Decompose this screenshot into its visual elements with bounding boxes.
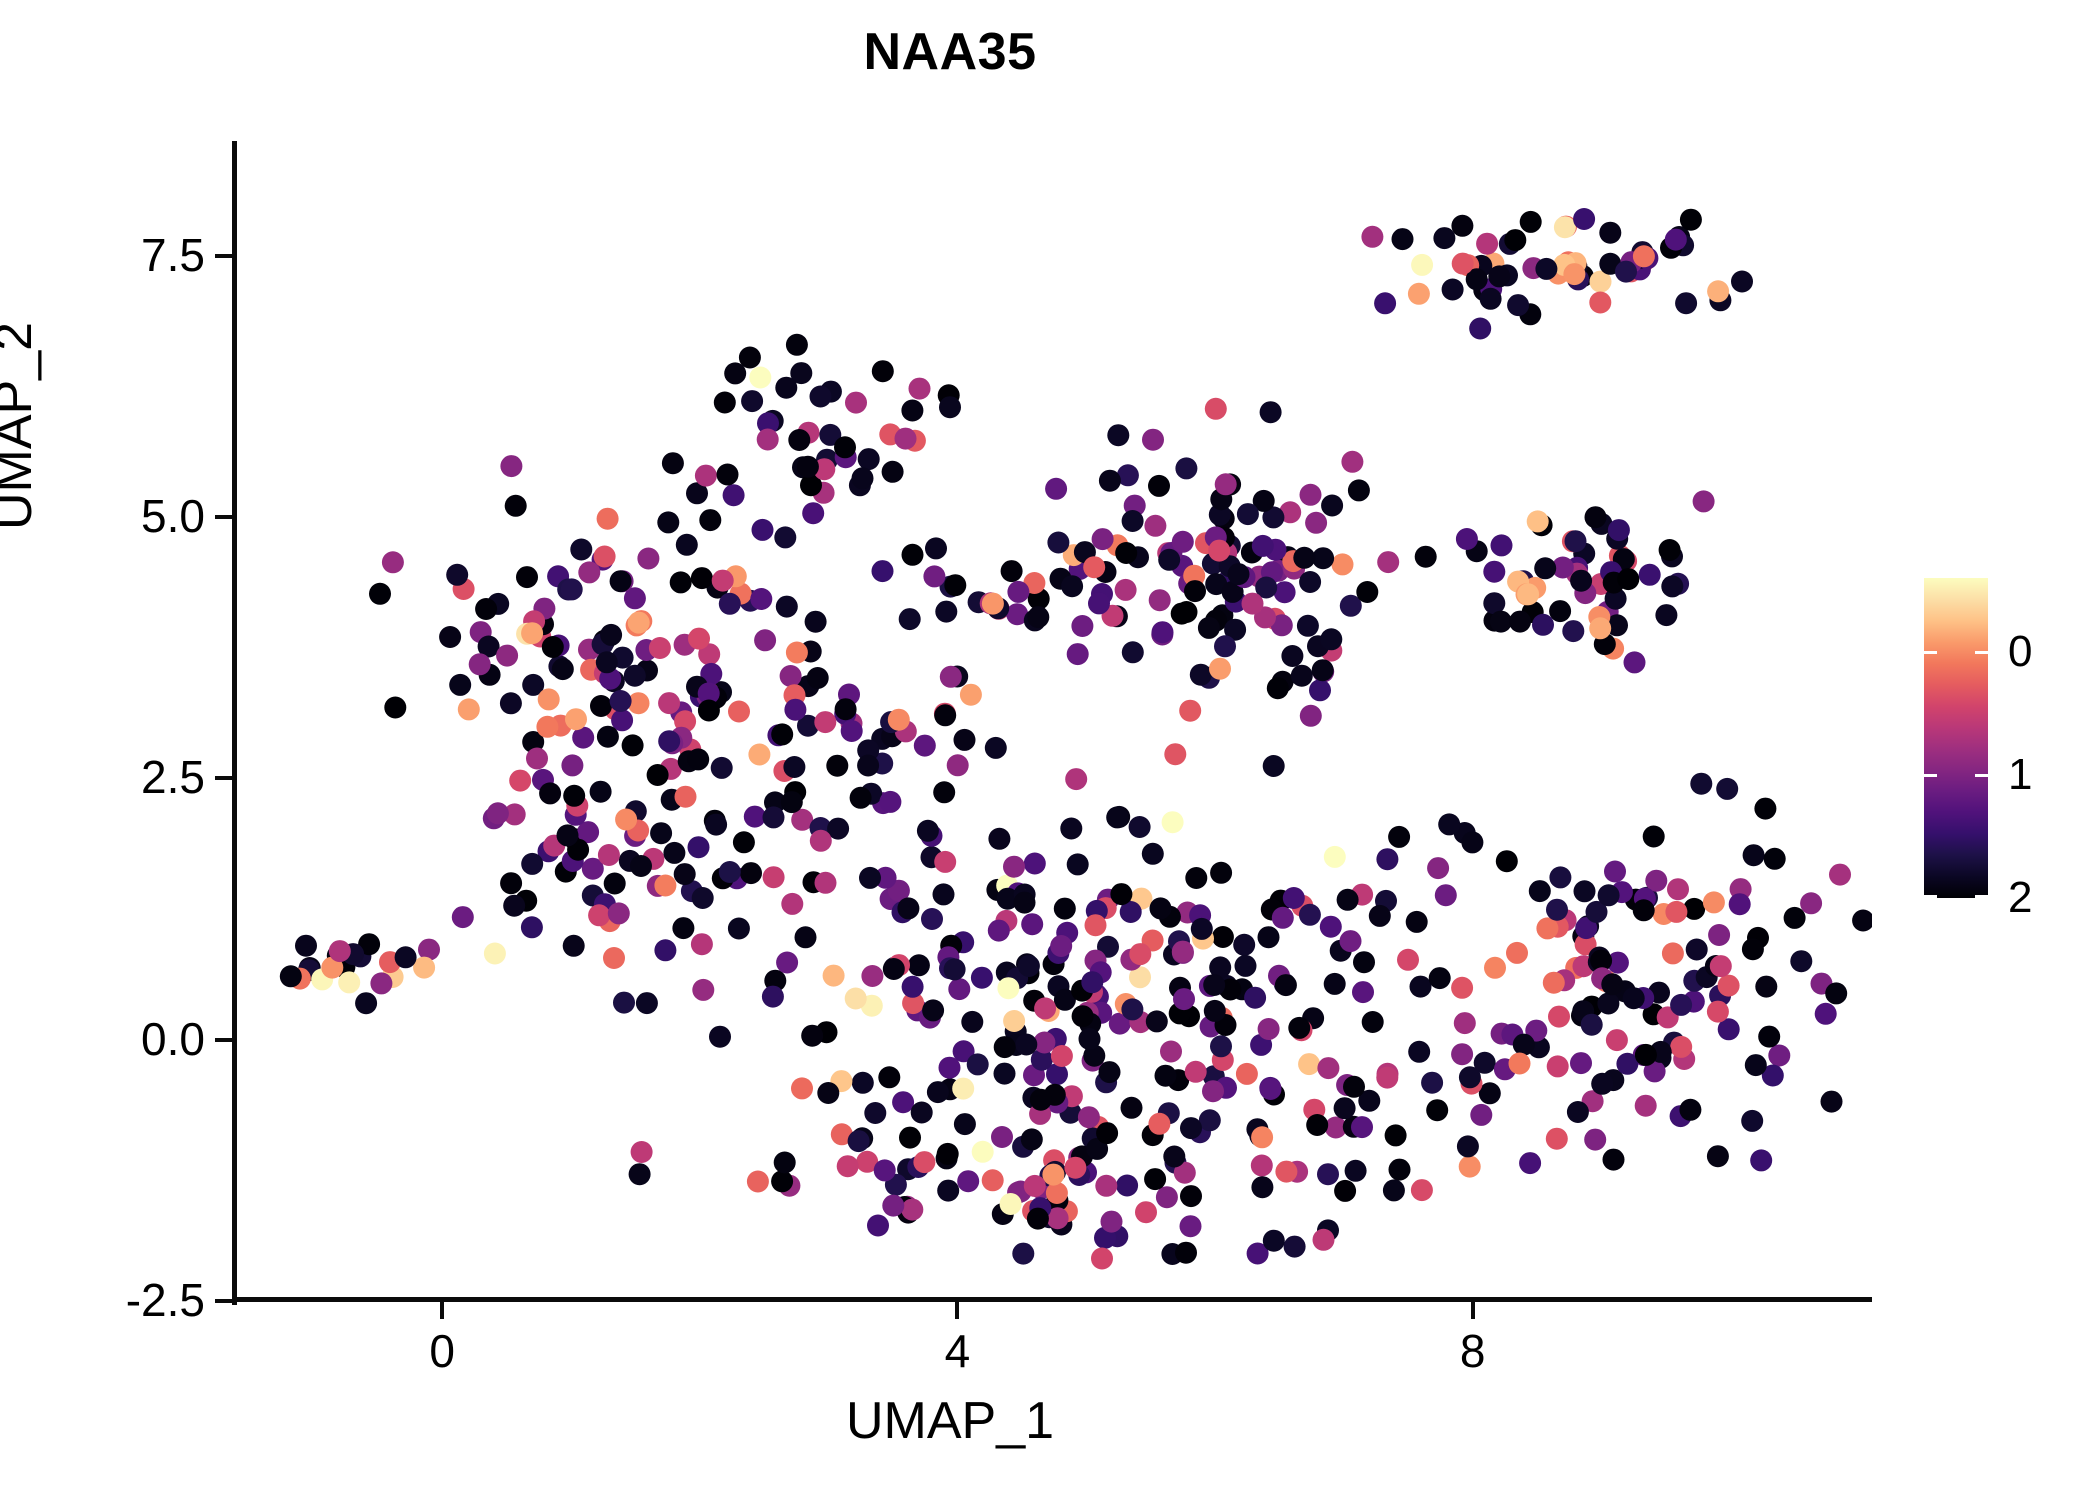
scatter-point: [921, 908, 943, 930]
scatter-point: [1433, 227, 1455, 249]
scatter-point: [705, 814, 727, 836]
scatter-point: [937, 1180, 959, 1202]
scatter-point: [1144, 515, 1166, 537]
scatter-point: [1309, 679, 1331, 701]
scatter-point: [1754, 798, 1776, 820]
scatter-point: [1081, 971, 1103, 993]
scatter-point: [1604, 861, 1626, 883]
scatter-point: [872, 360, 894, 382]
scatter-point: [1589, 292, 1611, 314]
scatter-point: [395, 946, 417, 968]
scatter-point: [1529, 880, 1551, 902]
scatter-point: [1334, 1180, 1356, 1202]
scatter-point: [1426, 1099, 1448, 1121]
scatter-point: [709, 1026, 731, 1048]
scatter-point: [1784, 907, 1806, 929]
scatter-point: [1175, 457, 1197, 479]
scatter-point: [1408, 1041, 1430, 1063]
scatter-point: [1116, 1175, 1138, 1197]
scatter-point: [972, 1141, 994, 1163]
scatter-point: [1332, 553, 1354, 575]
scatter-point: [988, 828, 1010, 850]
scatter-point: [280, 965, 302, 987]
scatter-point: [1598, 884, 1620, 906]
scatter-point: [837, 1155, 859, 1177]
scatter-point: [719, 593, 741, 615]
scatter-point: [1164, 743, 1186, 765]
scatter-point: [1397, 949, 1419, 971]
scatter-point: [1421, 1072, 1443, 1094]
scatter-point: [1299, 904, 1321, 926]
scatter-point: [1014, 892, 1036, 914]
scatter-point: [1340, 930, 1362, 952]
scatter-point: [1228, 563, 1250, 585]
scatter-point: [1343, 1076, 1365, 1098]
scatter-point: [1643, 826, 1665, 848]
scatter-point: [952, 1078, 974, 1100]
scatter-point: [649, 637, 671, 659]
scatter-point: [882, 1195, 904, 1217]
scatter-point: [933, 781, 955, 803]
scatter-point: [1554, 216, 1576, 238]
scatter-point: [1320, 628, 1342, 650]
scatter-point: [1274, 581, 1296, 603]
scatter-point: [933, 883, 955, 905]
scatter-point: [692, 979, 714, 1001]
scatter-point: [539, 782, 561, 804]
scatter-point: [1096, 1122, 1118, 1144]
scatter-point: [1176, 601, 1198, 623]
scatter-point: [1003, 1010, 1025, 1032]
scatter-point: [1686, 939, 1708, 961]
scatter-point: [786, 642, 808, 664]
scatter-point: [733, 831, 755, 853]
scatter-point: [1155, 1065, 1177, 1087]
scatter-point: [1051, 1045, 1073, 1067]
scatter-point: [1729, 893, 1751, 915]
scatter-point: [1007, 581, 1029, 603]
scatter-point: [503, 895, 525, 917]
scatter-point: [872, 560, 894, 582]
scatter-point: [954, 1113, 976, 1135]
scatter-point: [1633, 245, 1655, 267]
scatter-point: [848, 1130, 870, 1152]
scatter-point: [1067, 853, 1089, 875]
scatter-point: [487, 802, 509, 824]
scatter-point: [1312, 659, 1334, 681]
scatter-point: [1212, 926, 1234, 948]
scatter-point: [1300, 705, 1322, 727]
scatter-point: [1021, 913, 1043, 935]
scatter-point: [1121, 998, 1143, 1020]
scatter-point: [878, 1066, 900, 1088]
scatter-point: [603, 947, 625, 969]
scatter-point: [1027, 1208, 1049, 1230]
scatter-point: [688, 628, 710, 650]
scatter-point: [1317, 1057, 1339, 1079]
scatter-point: [370, 972, 392, 994]
scatter-point: [1589, 617, 1611, 639]
scatter-point: [1185, 1061, 1207, 1083]
scatter-point: [850, 787, 872, 809]
scatter-point: [802, 502, 824, 524]
scatter-point: [1236, 1063, 1258, 1085]
scatter-point: [1509, 611, 1531, 633]
scatter-point: [1546, 1128, 1568, 1150]
scatter-point: [991, 1126, 1013, 1148]
scatter-point: [628, 612, 650, 634]
scatter-point: [917, 820, 939, 842]
scatter-point: [740, 862, 762, 884]
scatter-point: [1085, 914, 1107, 936]
scatter-point: [1534, 557, 1556, 579]
scatter-point: [1504, 229, 1526, 251]
x-tick-label: 8: [1373, 1328, 1573, 1374]
scatter-point: [1532, 614, 1554, 636]
scatter-point: [475, 598, 497, 620]
scatter-point: [1476, 233, 1498, 255]
scatter-point: [1623, 987, 1645, 1009]
scatter-point: [1321, 495, 1343, 517]
scatter-point: [1190, 664, 1212, 686]
scatter-point: [658, 730, 680, 752]
scatter-point: [944, 958, 966, 980]
scatter-point: [757, 429, 779, 451]
scatter-point: [338, 971, 360, 993]
scatter-point: [728, 918, 750, 940]
scatter-point: [1000, 1193, 1022, 1215]
scatter-point: [369, 583, 391, 605]
scatter-point: [604, 873, 626, 895]
scatter-point: [909, 378, 931, 400]
legend-tick-label: 0: [2008, 630, 2078, 674]
scatter-point: [810, 830, 832, 852]
scatter-point: [1488, 265, 1510, 287]
scatter-point: [1306, 1114, 1328, 1136]
scatter-point: [852, 1072, 874, 1094]
y-tick-mark: [215, 254, 232, 258]
scatter-point: [1690, 773, 1712, 795]
scatter-point: [1351, 1116, 1373, 1138]
scatter-point: [1012, 1243, 1034, 1265]
scatter-point: [1275, 974, 1297, 996]
scatter-point: [557, 824, 579, 846]
scatter-point: [826, 755, 848, 777]
scatter-point: [1152, 621, 1174, 643]
scatter-point: [1092, 528, 1114, 550]
scatter-point: [1457, 1135, 1479, 1157]
scatter-point: [937, 1143, 959, 1165]
scatter-point: [1024, 1175, 1046, 1197]
scatter-point: [1710, 955, 1732, 977]
scatter-point: [935, 601, 957, 623]
scatter-point: [845, 392, 867, 414]
scatter-point: [1585, 506, 1607, 528]
scatter-point: [1215, 473, 1237, 495]
scatter-point: [658, 692, 680, 714]
scatter-point: [897, 897, 919, 919]
scatter-point: [1670, 1036, 1692, 1058]
scatter-point: [784, 699, 806, 721]
scatter-point: [1665, 901, 1687, 923]
scatter-point: [815, 872, 837, 894]
scatter-point: [1158, 549, 1180, 571]
scatter-point: [1078, 1106, 1100, 1128]
scatter-point: [1251, 1176, 1273, 1198]
scatter-point: [1313, 1229, 1335, 1251]
scatter-point: [901, 1199, 923, 1221]
scatter-point: [1300, 484, 1322, 506]
scatter-point: [1624, 651, 1646, 673]
scatter-point: [1563, 263, 1585, 285]
scatter-point: [610, 690, 632, 712]
scatter-point: [914, 735, 936, 757]
scatter-point: [1615, 261, 1637, 283]
scatter-point: [1115, 579, 1137, 601]
scatter-point: [1180, 1215, 1202, 1237]
x-tick-mark: [1471, 1302, 1475, 1319]
scatter-point: [1210, 862, 1232, 884]
scatter-point: [939, 396, 961, 418]
scatter-point: [1483, 561, 1505, 583]
scatter-point: [1461, 831, 1483, 853]
y-tick-mark: [215, 776, 232, 780]
scatter-point: [1574, 880, 1596, 902]
scatter-point: [1821, 1091, 1843, 1113]
scatter-point: [714, 392, 736, 414]
scatter-point: [994, 1036, 1016, 1058]
scatter-point: [536, 716, 558, 738]
scatter-point: [1764, 848, 1786, 870]
scatter-point: [1435, 884, 1457, 906]
scatter-point: [776, 596, 798, 618]
scatter-point: [413, 957, 435, 979]
scatter-point: [1427, 857, 1449, 879]
scatter-point: [1148, 1113, 1170, 1135]
scatter-point: [1106, 806, 1128, 828]
scatter-point: [1635, 1044, 1657, 1066]
scatter-point: [631, 1141, 653, 1163]
scatter-point: [662, 452, 684, 474]
scatter-point: [647, 764, 669, 786]
scatter-point: [1034, 997, 1056, 1019]
scatter-point: [741, 390, 763, 412]
scatter-point: [622, 734, 644, 756]
scatter-point: [1451, 1043, 1473, 1065]
scatter-point: [1142, 843, 1164, 865]
scatter-point: [775, 377, 797, 399]
scatter-point: [814, 711, 836, 733]
scatter-point: [1337, 889, 1359, 911]
scatter-point: [1305, 512, 1327, 534]
scatter-point: [596, 651, 618, 673]
scatter-point: [615, 809, 637, 831]
scatter-point: [600, 624, 622, 646]
scatter-point: [934, 851, 956, 873]
scatter-point: [1210, 1035, 1232, 1057]
scatter-point: [882, 461, 904, 483]
scatter-point: [1507, 294, 1529, 316]
scatter-point: [1708, 924, 1730, 946]
scatter-point: [1639, 564, 1661, 586]
scatter-point: [1046, 1182, 1068, 1204]
legend-colorbar: [1924, 578, 1988, 898]
scatter-point: [1829, 864, 1851, 886]
scatter-point: [1484, 957, 1506, 979]
scatter-point: [1293, 547, 1315, 569]
scatter-point: [624, 665, 646, 687]
scatter-point: [663, 842, 685, 864]
legend-tick-mark: [1924, 774, 1937, 777]
scatter-point: [1693, 490, 1715, 512]
scatter-point: [1661, 575, 1683, 597]
scatter-point: [691, 567, 713, 589]
scatter-point: [1146, 1010, 1168, 1032]
scatter-point: [1707, 1001, 1729, 1023]
scatter-point: [1341, 451, 1363, 473]
scatter-point: [1179, 700, 1201, 722]
scatter-point: [1267, 677, 1289, 699]
scatter-point: [750, 588, 772, 610]
scatter-point: [1199, 1109, 1221, 1131]
scatter-point: [1252, 535, 1274, 557]
scatter-point: [1442, 279, 1464, 301]
scatter-point: [861, 965, 883, 987]
scatter-point: [1742, 938, 1764, 960]
scatter-point: [744, 806, 766, 828]
scatter-point: [1408, 283, 1430, 305]
scatter-point: [1429, 967, 1451, 989]
scatter-point: [774, 1152, 796, 1174]
scatter-point: [911, 1102, 933, 1124]
y-tick-label: 0.0: [10, 1016, 205, 1062]
scatter-point: [1198, 617, 1220, 639]
scatter-point: [724, 362, 746, 384]
scatter-point: [1030, 1089, 1052, 1111]
scatter-point: [1376, 848, 1398, 870]
scatter-point: [650, 822, 672, 844]
scatter-point: [1388, 826, 1410, 848]
scatter-point: [1410, 976, 1432, 998]
scatter-point: [698, 700, 720, 722]
scatter-point: [1115, 542, 1137, 564]
scatter-point: [771, 723, 793, 745]
scatter-point: [908, 954, 930, 976]
scatter-point: [1513, 1034, 1535, 1056]
scatter-point: [1536, 917, 1558, 939]
scatter-point: [1156, 1186, 1178, 1208]
scatter-point: [801, 1025, 823, 1047]
scatter-point: [1064, 1157, 1086, 1179]
scatter-point: [1122, 641, 1144, 663]
scatter-point: [902, 976, 924, 998]
scatter-point: [1121, 1097, 1143, 1119]
scatter-point: [971, 967, 993, 989]
legend-tick-label: 1: [2008, 753, 2078, 797]
scatter-point: [1203, 974, 1225, 996]
scatter-point: [892, 1091, 914, 1113]
scatter-point: [807, 667, 829, 689]
scatter-point: [594, 546, 616, 568]
scatter-point: [1459, 1066, 1481, 1088]
scatter-point: [711, 757, 733, 779]
scatter-point: [1191, 918, 1213, 940]
scatter-point: [1015, 1034, 1037, 1056]
scatter-point: [597, 726, 619, 748]
scatter-point: [1244, 987, 1266, 1009]
scatter-point: [1042, 1164, 1064, 1186]
scatter-point: [1361, 226, 1383, 248]
scatter-point: [1312, 547, 1334, 569]
scatter-point: [610, 570, 632, 592]
scatter-point: [687, 748, 709, 770]
scatter-point: [654, 939, 676, 961]
scatter-point: [1045, 478, 1067, 500]
scatter-point: [1067, 643, 1089, 665]
scatter-point: [1573, 208, 1595, 230]
scatter-point: [1122, 510, 1144, 532]
scatter-point: [1570, 1052, 1592, 1074]
scatter-point: [1469, 318, 1491, 340]
scatter-point: [538, 688, 560, 710]
legend-tick-mark: [1975, 651, 1988, 654]
scatter-point: [1517, 583, 1539, 605]
scatter-point: [1173, 988, 1195, 1010]
scatter-point: [1406, 911, 1428, 933]
scatter-point: [1297, 615, 1319, 637]
scatter-point: [867, 1215, 889, 1237]
scatter-point: [509, 770, 531, 792]
scatter-point: [940, 666, 962, 688]
scatter-point: [1635, 1095, 1657, 1117]
scatter-point: [1263, 1230, 1285, 1252]
legend-tick-mark: [1924, 895, 1937, 898]
scatter-point: [1376, 1067, 1398, 1089]
scatter-point: [1202, 1080, 1224, 1102]
scatter-point: [923, 565, 945, 587]
scatter-point: [1135, 1201, 1157, 1223]
scatter-point: [1570, 570, 1592, 592]
scatter-point: [484, 943, 506, 965]
scatter-point: [1599, 222, 1621, 244]
scatter-point: [1079, 1028, 1101, 1050]
scatter-point: [1163, 1146, 1185, 1168]
scatter-point: [630, 855, 652, 877]
scatter-point: [500, 455, 522, 477]
scatter-point: [597, 508, 619, 530]
scatter-point: [797, 456, 819, 478]
scatter-point: [1800, 892, 1822, 914]
scatter-point: [1385, 1124, 1407, 1146]
scatter-point: [1825, 982, 1847, 1004]
scatter-point: [1283, 887, 1305, 909]
scatter-point: [608, 902, 630, 924]
scatter-point: [1208, 540, 1230, 562]
scatter-point: [654, 875, 676, 897]
scatter-point: [1480, 288, 1502, 310]
scatter-point: [786, 334, 808, 356]
scatter-point: [526, 748, 548, 770]
scatter-point: [1548, 1006, 1570, 1028]
scatter-point: [763, 806, 785, 828]
scatter-point: [1369, 905, 1391, 927]
scatter-point: [1520, 211, 1542, 233]
scatter-point: [1091, 1248, 1113, 1270]
scatter-point: [384, 697, 406, 719]
scatter-point: [1150, 897, 1172, 919]
scatter-point: [1284, 1236, 1306, 1258]
scatter-point: [1451, 215, 1473, 237]
